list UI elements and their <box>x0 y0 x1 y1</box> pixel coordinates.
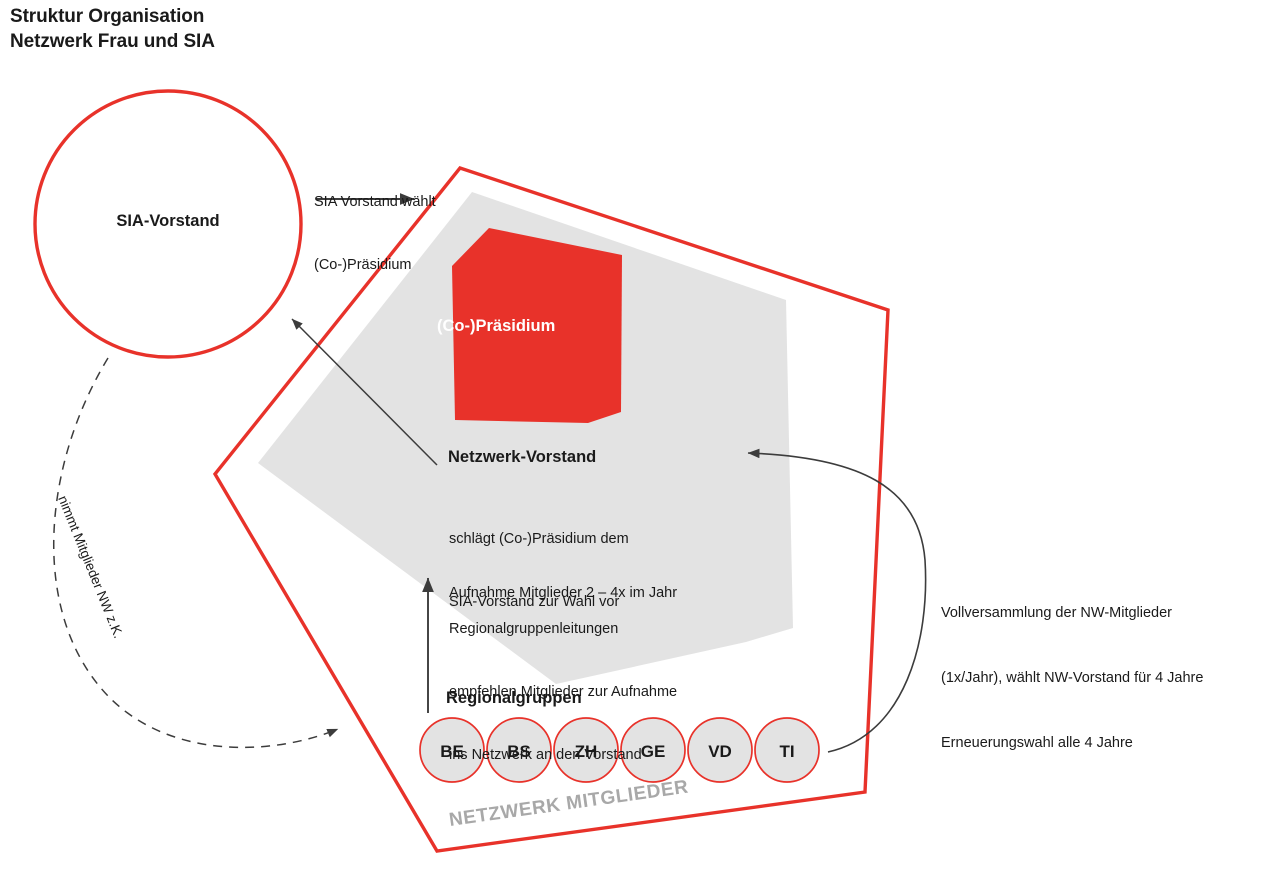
regionalgruppe-circle[interactable]: VD <box>688 718 752 782</box>
vollversammlung-line-1: Vollversammlung der NW-Mitglieder <box>941 603 1203 625</box>
diagram-root: Struktur Organisation Netzwerk Frau und … <box>0 0 1266 885</box>
praesidium-label: (Co-)Präsidium <box>437 317 555 336</box>
sia-elects-line-2: (Co-)Präsidium <box>314 255 436 276</box>
vollversammlung-line-2: (1x/Jahr), wählt NW-Vorstand für 4 Jahre <box>941 668 1203 690</box>
regionalgruppe-circle[interactable]: TI <box>755 718 819 782</box>
sia-elects-line-1: SIA Vorstand wählt <box>314 192 436 213</box>
vollversammlung-line-3: Erneuerungswahl alle 4 Jahre <box>941 733 1203 755</box>
nv-body-3-line-1: Regionalgruppenleitungen <box>449 619 677 640</box>
sia-vorstand-label: SIA-Vorstand <box>38 212 298 231</box>
vollversammlung-note: Vollversammlung der NW-Mitglieder (1x/Ja… <box>941 559 1203 798</box>
nimmt-mitglieder-label: nimmt Mitglieder NW z.K. <box>55 494 126 641</box>
regionalgruppen-title: Regionalgruppen <box>446 689 582 708</box>
regionalgruppe-label: TI <box>779 742 794 761</box>
netzwerk-vorstand-title: Netzwerk-Vorstand <box>448 448 596 467</box>
sia-elects-arrow-label: SIA Vorstand wählt (Co-)Präsidium <box>314 150 436 318</box>
nv-body-3-line-3: ins Netzwerk an den Vorstand <box>449 745 677 766</box>
regionalgruppe-label: VD <box>708 742 732 761</box>
